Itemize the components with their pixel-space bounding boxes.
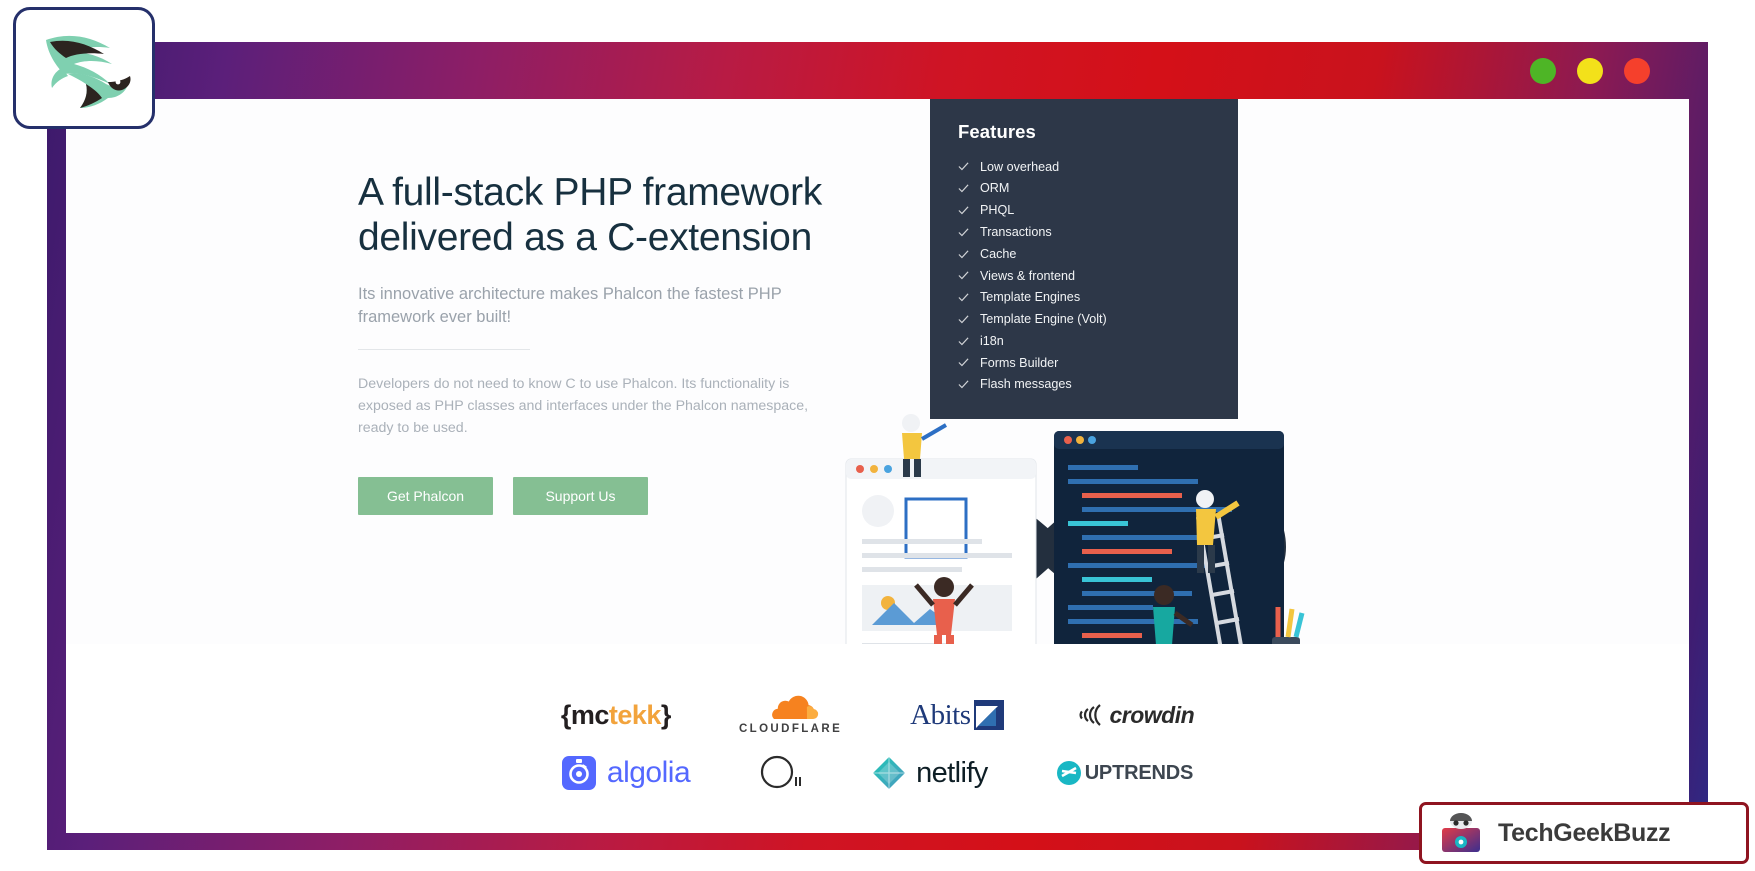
algolia-mark-icon <box>562 756 596 790</box>
features-list: Low overhead ORM PHQL <box>958 156 1238 396</box>
check-icon <box>958 292 969 303</box>
sponsor-netlify[interactable]: netlify <box>872 747 988 799</box>
cloud-icon <box>760 695 822 721</box>
sponsor-mctekk[interactable]: {mctekk} <box>561 689 671 741</box>
check-icon <box>958 314 969 325</box>
feature-label: ORM <box>980 182 1009 195</box>
uptrends-logo: UPTRENDS <box>1056 760 1193 786</box>
feature-item: PHQL <box>958 200 1238 222</box>
ovh-logo <box>758 753 804 793</box>
feature-item: Forms Builder <box>958 352 1238 374</box>
check-icon <box>958 161 969 172</box>
cloudflare-logo: CLOUDFLARE <box>739 695 842 735</box>
feature-label: Template Engine (Volt) <box>980 313 1107 326</box>
check-icon <box>958 227 969 238</box>
feature-item: Views & frontend <box>958 265 1238 287</box>
netlify-mark-icon <box>872 756 906 790</box>
sponsor-abits[interactable]: Abits <box>910 689 1005 741</box>
check-icon <box>958 205 969 216</box>
check-icon <box>958 270 969 281</box>
algolia-wordmark: algolia <box>607 756 690 790</box>
window-dot-green[interactable] <box>1530 58 1556 84</box>
techgeekbuzz-watermark: TechGeekBuzz <box>1419 802 1749 864</box>
feature-item: Cache <box>958 243 1238 265</box>
screenshot-root: A full-stack PHP framework delivered as … <box>0 0 1755 871</box>
features-title: Features <box>958 121 1238 143</box>
hero-title-line1: A full-stack PHP framework <box>358 171 822 214</box>
sponsor-crowdin[interactable]: crowdin <box>1074 689 1195 741</box>
hero-body-text: Developers do not need to know C to use … <box>358 373 828 439</box>
feature-item: Template Engine (Volt) <box>958 308 1238 330</box>
crowdin-logo: crowdin <box>1074 702 1195 729</box>
sponsor-cloudflare[interactable]: CLOUDFLARE <box>739 689 842 741</box>
hero-title-line2: delivered as a C-extension <box>358 216 812 259</box>
browser-window-frame: A full-stack PHP framework delivered as … <box>47 42 1708 850</box>
check-icon <box>958 249 969 260</box>
hero-divider <box>358 349 530 350</box>
techgeekbuzz-logo-icon <box>1438 812 1484 854</box>
sponsor-ovh[interactable] <box>758 747 804 799</box>
sponsor-row-1: {mctekk} CLOUDFLARE <box>66 686 1689 744</box>
feature-item: Flash messages <box>958 374 1238 396</box>
check-icon <box>958 183 969 194</box>
feature-item: Low overhead <box>958 156 1238 178</box>
feature-item: i18n <box>958 330 1238 352</box>
abits-wordmark: Abits <box>910 699 970 732</box>
hero-subtitle: Its innovative architecture makes Phalco… <box>358 283 798 330</box>
feature-label: Views & frontend <box>980 270 1075 283</box>
mctekk-logo: {mctekk} <box>561 700 671 731</box>
check-icon <box>958 336 969 347</box>
feature-label: Cache <box>980 248 1016 261</box>
algolia-logo: algolia <box>562 756 690 790</box>
netlify-logo: netlify <box>872 756 988 790</box>
uptrends-wordmark: UPTRENDS <box>1085 762 1193 785</box>
page-viewport: A full-stack PHP framework delivered as … <box>66 99 1689 833</box>
feature-label: Transactions <box>980 226 1052 239</box>
netlify-wordmark: netlify <box>916 757 988 790</box>
ovh-mark-icon <box>758 753 804 793</box>
hero-copy: A full-stack PHP framework delivered as … <box>358 171 878 515</box>
sponsor-row-2: algolia <box>66 744 1689 802</box>
features-panel: Features Low overhead ORM <box>930 99 1238 419</box>
abits-logo: Abits <box>910 698 1005 732</box>
hero-illustration <box>806 399 1366 644</box>
falcon-icon <box>28 22 140 114</box>
feature-label: Forms Builder <box>980 357 1058 370</box>
feature-label: Low overhead <box>980 161 1059 174</box>
abits-mark-icon <box>972 698 1006 732</box>
check-icon <box>958 379 969 390</box>
crowdin-mark-icon <box>1074 702 1104 728</box>
cloudflare-wordmark: CLOUDFLARE <box>739 723 842 735</box>
feature-label: i18n <box>980 335 1004 348</box>
sponsor-algolia[interactable]: algolia <box>562 747 690 799</box>
hero-section: A full-stack PHP framework delivered as … <box>66 99 1689 644</box>
watermark-text: TechGeekBuzz <box>1498 819 1670 848</box>
feature-item: Transactions <box>958 221 1238 243</box>
feature-label: Template Engines <box>980 291 1080 304</box>
browser-titlebar <box>47 42 1708 99</box>
window-controls <box>1530 58 1650 84</box>
crowdin-wordmark: crowdin <box>1110 702 1195 729</box>
feature-item: Template Engines <box>958 287 1238 309</box>
feature-item: ORM <box>958 178 1238 200</box>
feature-label: PHQL <box>980 204 1014 217</box>
window-dot-yellow[interactable] <box>1577 58 1603 84</box>
feature-label: Flash messages <box>980 378 1072 391</box>
window-dot-red[interactable] <box>1624 58 1650 84</box>
uptrends-mark-icon <box>1056 760 1082 786</box>
phalcon-logo-badge <box>13 7 155 129</box>
page-title: A full-stack PHP framework delivered as … <box>358 171 878 261</box>
sponsor-uptrends[interactable]: UPTRENDS <box>1056 747 1193 799</box>
support-us-button[interactable]: Support Us <box>513 477 648 515</box>
get-phalcon-button[interactable]: Get Phalcon <box>358 477 493 515</box>
hero-actions: Get Phalcon Support Us <box>358 477 878 515</box>
check-icon <box>958 357 969 368</box>
